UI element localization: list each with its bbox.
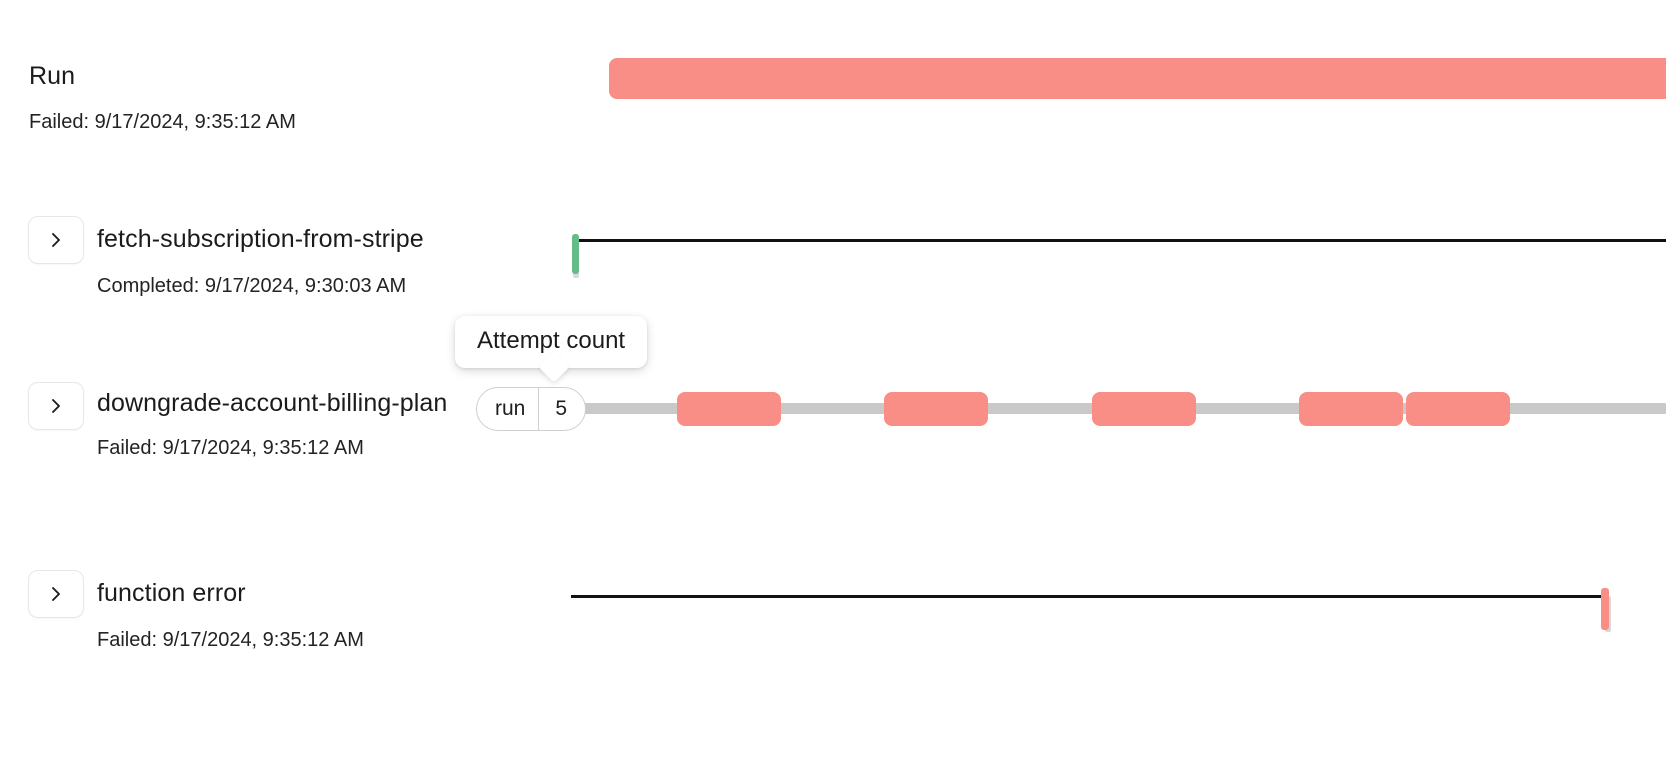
timeline-row-function-error: function error Failed: 9/17/2024, 9:35:1… — [0, 570, 1666, 670]
run-timeline-view: Run Failed: 9/17/2024, 9:35:12 AM fetch-… — [0, 0, 1666, 768]
lane-hairline — [571, 595, 1606, 598]
timeline-row-fetch-subscription-from-stripe: fetch-subscription-from-stripe Completed… — [0, 216, 1666, 316]
attempt-pill-value: 5 — [538, 388, 585, 430]
attempt-count-tooltip: Attempt count — [455, 316, 647, 368]
timeline-row-run: Run Failed: 9/17/2024, 9:35:12 AM — [0, 52, 1666, 152]
attempt-bar[interactable] — [884, 392, 988, 426]
row-status-text: Failed: 9/17/2024, 9:35:12 AM — [29, 108, 296, 136]
attempt-bar[interactable] — [1299, 392, 1403, 426]
timeline-lane-function-error[interactable] — [0, 570, 1666, 640]
timeline-lane-fetch-subscription-from-stripe[interactable] — [0, 216, 1666, 286]
timeline-lane-run[interactable] — [0, 52, 1666, 108]
attempt-bar[interactable] — [1092, 392, 1196, 426]
run-duration-bar[interactable] — [609, 58, 1666, 99]
attempt-bar[interactable] — [677, 392, 781, 426]
timeline-lane-downgrade-account-billing-plan[interactable] — [0, 382, 1666, 442]
lane-hairline — [578, 239, 1666, 242]
attempt-bar[interactable] — [1406, 392, 1510, 426]
attempt-count-pill[interactable]: run 5 — [476, 387, 586, 431]
failed-marker[interactable] — [1601, 588, 1609, 630]
timeline-row-downgrade-account-billing-plan: downgrade-account-billing-plan Failed: 9… — [0, 382, 1666, 512]
attempt-pill-label: run — [477, 388, 538, 430]
completed-marker[interactable] — [572, 234, 579, 274]
